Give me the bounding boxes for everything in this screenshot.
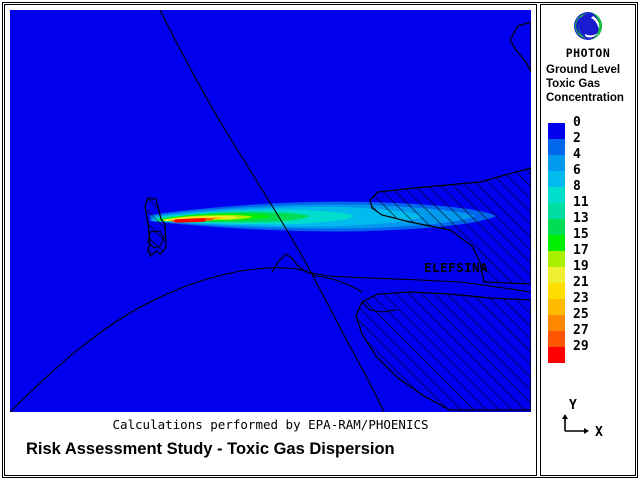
legend-swatch bbox=[548, 171, 565, 187]
legend-title: Ground Level Toxic Gas Concentration bbox=[546, 63, 638, 105]
map-pane: ELEFSINA Calculations performed by EPA-R… bbox=[4, 4, 537, 476]
legend-swatch bbox=[548, 155, 565, 171]
legend-value-label: 0 bbox=[573, 115, 581, 131]
legend-swatch bbox=[548, 283, 565, 299]
application-window: ELEFSINA Calculations performed by EPA-R… bbox=[0, 0, 640, 480]
legend-value-label: 4 bbox=[573, 147, 581, 163]
legend-swatch bbox=[548, 315, 565, 331]
axis-x-label: X bbox=[595, 425, 603, 440]
legend-swatch bbox=[548, 347, 565, 363]
page-title: Risk Assessment Study - Toxic Gas Disper… bbox=[26, 440, 531, 459]
legend-value-label: 8 bbox=[573, 179, 581, 195]
legend-title-line-1: Ground Level bbox=[546, 63, 638, 77]
legend-row[interactable]: 6 bbox=[541, 171, 635, 187]
legend-swatch bbox=[548, 203, 565, 219]
axis-cross-icon: Y X bbox=[555, 395, 617, 443]
legend-swatch bbox=[548, 267, 565, 283]
legend-swatch bbox=[548, 235, 565, 251]
subtitle-text: Calculations performed by EPA-RAM/PHOENI… bbox=[10, 417, 531, 432]
legend-value-label: 13 bbox=[573, 211, 589, 227]
axis-y-label: Y bbox=[569, 398, 577, 413]
legend-value-label: 15 bbox=[573, 227, 589, 243]
legend-value-label: 2 bbox=[573, 131, 581, 147]
legend-value-label: 25 bbox=[573, 307, 589, 323]
place-label-elefsina: ELEFSINA bbox=[424, 260, 488, 275]
legend-value-label: 27 bbox=[573, 323, 589, 339]
brand-name: PHOTON bbox=[541, 46, 635, 60]
legend-row[interactable]: 4 bbox=[541, 155, 635, 171]
legend-title-line-3: Concentration bbox=[546, 91, 638, 105]
legend-swatch bbox=[548, 139, 565, 155]
legend-swatch bbox=[548, 219, 565, 235]
legend-value-label: 21 bbox=[573, 275, 589, 291]
legend-value-label: 19 bbox=[573, 259, 589, 275]
legend-value-label: 29 bbox=[573, 339, 589, 355]
legend-swatch bbox=[548, 123, 565, 139]
legend-value-label: 23 bbox=[573, 291, 589, 307]
legend-swatch bbox=[548, 251, 565, 267]
legend-row[interactable]: 29 bbox=[541, 347, 635, 363]
caption-block: Calculations performed by EPA-RAM/PHOENI… bbox=[10, 414, 531, 472]
legend-title-line-2: Toxic Gas bbox=[546, 77, 638, 91]
dispersion-map-svg: ELEFSINA bbox=[10, 10, 531, 412]
globe-logo-icon bbox=[571, 10, 605, 44]
legend-swatch bbox=[548, 299, 565, 315]
legend-color-scale[interactable]: 0246811131517192123252729 bbox=[541, 123, 635, 379]
axis-orientation-indicator: Y X bbox=[555, 395, 625, 445]
photon-logo bbox=[541, 10, 635, 48]
legend-row[interactable]: 2 bbox=[541, 139, 635, 155]
legend-row[interactable]: 0 bbox=[541, 123, 635, 139]
legend-swatch bbox=[548, 187, 565, 203]
legend-swatch bbox=[548, 331, 565, 347]
legend-value-label: 6 bbox=[573, 163, 581, 179]
legend-pane: PHOTON Ground Level Toxic Gas Concentrat… bbox=[540, 4, 636, 476]
map-plot-area[interactable]: ELEFSINA bbox=[10, 10, 531, 412]
legend-value-label: 17 bbox=[573, 243, 589, 259]
legend-value-label: 11 bbox=[573, 195, 589, 211]
